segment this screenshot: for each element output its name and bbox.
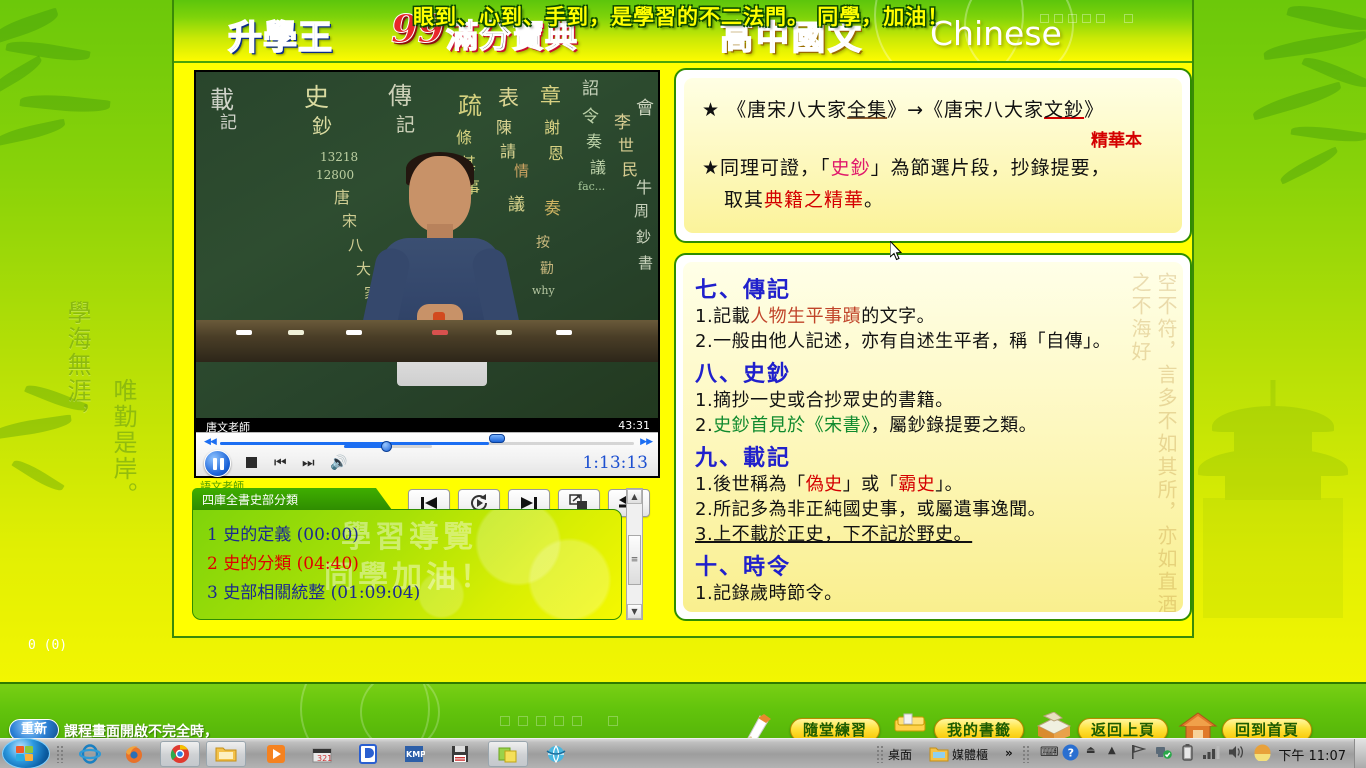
volume-speaker-icon[interactable]: 🔊: [330, 455, 347, 471]
note-text: ，屬鈔錄提要之類。: [871, 415, 1038, 436]
windows-taskbar: 321 KMP 桌面 媒體櫃 » ⌨ ? ⏏ ▲ 下午 11:07: [0, 738, 1366, 768]
outline-item-title: 史的分類: [223, 554, 291, 574]
scroll-down-icon[interactable]: ▼: [627, 604, 642, 619]
note-text-underlined: 全集: [847, 99, 887, 121]
note-text: 的文字。: [861, 306, 935, 327]
note-section-heading: 八、史鈔: [695, 356, 1171, 388]
outline-tab[interactable]: 四庫全書史部分類: [192, 488, 392, 510]
show-desktop-button[interactable]: [1354, 739, 1366, 768]
subject-title-en: Chinese: [930, 14, 1062, 53]
brand-logo-text: 升學王: [228, 10, 333, 59]
folder-icon[interactable]: [206, 741, 246, 767]
outline-item-title: 史的定義: [223, 525, 291, 545]
classroom-desk: [196, 320, 658, 362]
firefox-icon[interactable]: [114, 741, 154, 767]
note-text-highlight: 史鈔: [831, 157, 871, 179]
signal-icon[interactable]: [1202, 744, 1220, 764]
clip-duration-label: 43:31: [618, 419, 650, 432]
note-section-line: 1.後世稱為「偽史」或「霸史」。: [695, 472, 1171, 497]
outline-item-time: (04:40): [297, 554, 359, 574]
kmplayer-icon[interactable]: KMP: [394, 741, 434, 767]
note-section-line: 2.史鈔首見於《宋書》，屬鈔錄提要之類。: [695, 413, 1171, 438]
lecture-video-frame: 載 記 史 鈔 13218 12800 唐 宋 八 大 家 全 集 傳 記 疏 …: [196, 72, 658, 420]
outline-item-title: 史部相關統整: [223, 583, 325, 603]
volume-slider[interactable]: [344, 445, 432, 448]
note-text: 1.後世稱為「: [695, 474, 806, 495]
note-section-line: 3.上不載於正史，下不記於野史。: [695, 522, 1171, 547]
outline-list: 學習導覽 同學加油！ 1 史的定義 (00:00) 2 史的分類 (04:40)…: [192, 509, 622, 620]
note-text: 《唐宋八大家: [727, 99, 847, 121]
windows-start-orb[interactable]: [2, 738, 50, 768]
note-text: 人物生平事蹟: [750, 306, 861, 327]
daum-potplayer-icon[interactable]: [348, 741, 388, 767]
note-section-line: 1.記載人物生平事蹟的文字。: [695, 304, 1171, 329]
sun-icon[interactable]: [1254, 744, 1271, 765]
toolbar-grip-desktop: [876, 745, 884, 763]
note-text: 偽史: [806, 474, 843, 495]
show-hidden-icons-chevron[interactable]: ⏏: [1086, 745, 1095, 756]
stop-button[interactable]: [246, 457, 257, 468]
note-section-heading: 十、時令: [695, 549, 1171, 581]
pause-button[interactable]: [204, 450, 231, 477]
sticky-notes-icon[interactable]: [488, 741, 528, 767]
note-top-line3: 取其典籍之精華。: [702, 184, 1164, 216]
bullet-star-icon: ★: [702, 157, 720, 179]
list-item[interactable]: 1 史的定義 (00:00): [207, 520, 621, 545]
note-section-line: 1.記錄歲時節令。: [695, 581, 1171, 606]
library-folder-icon[interactable]: [928, 741, 950, 767]
note-text: 」或「: [843, 474, 899, 495]
outline-item-time: (01:09:04): [331, 583, 421, 603]
media-player-icon[interactable]: [256, 741, 296, 767]
note-text: 》→《唐宋八大家: [887, 99, 1044, 121]
note-card-main: 空不符，言多不如其所，亦如直酒之不海好 七、傳記1.記載人物生平事蹟的文字。2.…: [674, 253, 1192, 621]
note-text: 2.所記多為非正純國史事，或屬遺事逸聞。: [695, 499, 1046, 520]
toolbar-grip: [56, 745, 64, 763]
note-section-line: 1.摘抄一史或合抄眾史的書籍。: [695, 388, 1171, 413]
chrome-icon[interactable]: [160, 741, 200, 767]
scrollbar-thumb[interactable]: ≡: [628, 535, 641, 585]
note-text: 3.上不載於正史，下不記於野史。: [695, 524, 972, 545]
note-section-line: 2.所記多為非正純國史事，或屬遺事逸聞。: [695, 497, 1171, 522]
flag-icon[interactable]: [1130, 744, 1146, 764]
total-time-label: 1:13:13: [582, 453, 648, 473]
counter-readout: 0 (0): [28, 638, 67, 653]
note-section-heading: 九、載記: [695, 440, 1171, 472]
seek-thumb[interactable]: [489, 434, 505, 443]
note-text-underlined: 文鈔: [1044, 99, 1084, 121]
motivational-slogan: 眼到、心到、手到，是學習的不二法門。 同學，加油！: [413, 1, 949, 31]
wallpaper-quote-line2: 唯勤是岸。: [108, 378, 138, 508]
course-player-window: 升學王 99 滿分寶典 高中國文 Chinese 載 記 史 鈔 13218 1…: [172, 0, 1194, 638]
wallpaper-pagoda: [1198, 380, 1348, 630]
toolbar-label-desktop[interactable]: 桌面: [888, 746, 912, 763]
note-top-line1: ★ 《唐宋八大家全集》→《唐宋八大家文鈔》: [702, 94, 1164, 126]
outline-item-time: (00:00): [297, 525, 359, 545]
ie-globe-icon[interactable]: [536, 741, 576, 767]
keyboard-icon[interactable]: ⌨: [1040, 745, 1059, 760]
outline-item-num: 1: [207, 525, 218, 545]
note-text: 」。: [935, 474, 963, 495]
note-text: 」為節選片段，抄錄提要，: [871, 157, 1111, 179]
note-text: 同理可證，「: [720, 157, 831, 179]
volume-fill: [344, 445, 386, 448]
note-text: 。: [864, 189, 884, 211]
note-top-line2: ★同理可證，「史鈔」為節選片段，抄錄提要，: [702, 152, 1164, 184]
note-text: 2.: [695, 415, 713, 436]
note-sections: 七、傳記1.記載人物生平事蹟的文字。2.一般由他人記述，亦有自述生平者，稱「自傳…: [695, 272, 1171, 606]
help-icon[interactable]: ?: [1062, 744, 1079, 765]
note-text: 霸史: [898, 474, 935, 495]
volume-icon[interactable]: [1228, 744, 1246, 764]
note-text: 1.記錄歲時節令。: [695, 583, 843, 604]
network-ok-icon[interactable]: [1155, 744, 1172, 764]
taskbar-clock[interactable]: 下午 11:07: [1278, 745, 1346, 764]
video-clapper-icon[interactable]: 321: [302, 741, 342, 767]
list-item[interactable]: 3 史部相關統整 (01:09:04): [207, 578, 621, 603]
video-controls: ◀◀ ▶▶ ⏮ ⏭ 🔊 1:13:13: [196, 432, 658, 476]
outline-item-num: 2: [207, 554, 218, 574]
svg-text:?: ?: [1068, 746, 1074, 759]
list-item[interactable]: 2 史的分類 (04:40): [207, 549, 621, 574]
next-track-icon[interactable]: ⏭: [302, 455, 315, 471]
note-text: 2.一般由他人記述，亦有自述生平者，稱「自傳」。: [695, 331, 1111, 352]
note-section-line: 2.一般由他人記述，亦有自述生平者，稱「自傳」。: [695, 329, 1171, 354]
note-annotation: 精華本: [1091, 126, 1142, 151]
note-text: 1.記載: [695, 306, 750, 327]
note-card-top: ★ 《唐宋八大家全集》→《唐宋八大家文鈔》 精華本 ★同理可證，「史鈔」為節選片…: [674, 68, 1192, 243]
outline-item-num: 3: [207, 583, 218, 603]
lesson-outline-panel: 語文老師 四庫全書史部分類 學習導覽 同學加油！ 1 史的定義 (00:00) …: [192, 488, 622, 620]
internet-explorer-icon[interactable]: [70, 741, 110, 767]
previous-track-icon[interactable]: ⏮: [274, 455, 287, 471]
bullet-star-icon: ★: [702, 99, 720, 121]
svg-text:KMP: KMP: [406, 750, 425, 759]
wallpaper-quote-line1: 學海無涯，: [62, 300, 92, 430]
toolbar-overflow-chevron[interactable]: »: [1005, 746, 1013, 760]
note-text-highlight: 典籍之精華: [764, 189, 864, 211]
note-text: 1.摘抄一史或合抄眾史的書籍。: [695, 390, 954, 411]
scroll-up-icon[interactable]: ▲: [627, 489, 642, 504]
collapse-tray-icon[interactable]: ▲: [1108, 745, 1116, 756]
volume-thumb[interactable]: [381, 441, 392, 452]
video-player[interactable]: 載 記 史 鈔 13218 12800 唐 宋 八 大 家 全 集 傳 記 疏 …: [192, 68, 662, 480]
fast-forward-icon[interactable]: ▶▶: [640, 437, 652, 447]
note-text: 史鈔首見於《宋書》: [713, 415, 871, 436]
rewind-icon[interactable]: ◀◀: [204, 437, 216, 447]
note-section-heading: 七、傳記: [695, 272, 1171, 304]
tray-grip: [1022, 745, 1030, 763]
svg-text:321: 321: [317, 754, 332, 763]
toolbar-label-library[interactable]: 媒體櫃: [952, 746, 988, 763]
outline-scrollbar[interactable]: ▲ ≡ ▼: [626, 488, 643, 620]
note-text: 取其: [724, 189, 764, 211]
note-text: 》: [1084, 99, 1104, 121]
battery-icon[interactable]: [1182, 744, 1193, 765]
save-disk-icon[interactable]: [440, 741, 480, 767]
